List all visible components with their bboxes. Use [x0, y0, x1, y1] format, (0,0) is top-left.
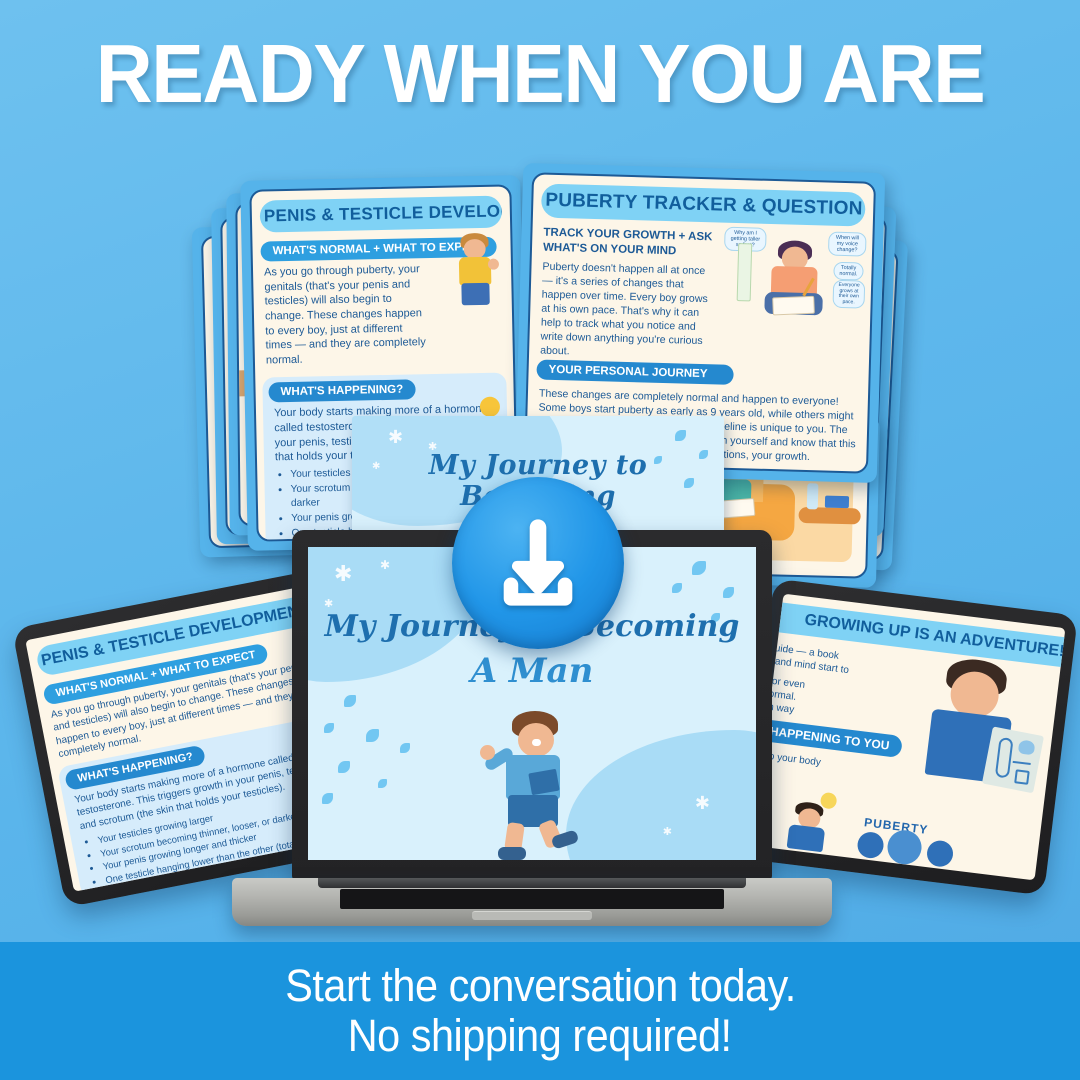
download-badge[interactable] [452, 477, 624, 649]
laptop-base [232, 878, 832, 926]
running-boy-illustration [472, 711, 592, 860]
sparkle-icon: ✱ [695, 794, 710, 812]
bottom-banner: Start the conversation today. No shippin… [0, 942, 1080, 1080]
section-heading-whats-happening: WHAT'S HAPPENING? [268, 380, 415, 403]
speech-bubble: Everyone grows at their own pace. [832, 280, 865, 309]
laptop-keyboard[interactable] [340, 889, 724, 909]
cover-title-line2: A Man [308, 651, 756, 691]
boy-illustration [446, 230, 504, 311]
section-heading-track-growth: TRACK YOUR GROWTH + ASK WHAT'S ON YOUR M… [532, 223, 723, 261]
section-heading-personal-journey: YOUR PERSONAL JOURNEY [536, 360, 734, 385]
sparkle-icon: ✱ [380, 559, 390, 571]
speech-bubble: When will my voice change? [828, 232, 867, 257]
laptop-trackpad[interactable] [472, 911, 592, 920]
section-body-normal-expect: As you go through puberty, your genitals… [253, 262, 441, 368]
page-title: READY WHEN YOU ARE [27, 32, 1053, 115]
laptop-hinge [318, 878, 746, 888]
decorative-wave [566, 730, 756, 860]
puberty-icons-row [856, 825, 969, 872]
boy-with-chart-illustration [901, 653, 1048, 818]
sparkle-icon: ✱ [663, 827, 672, 838]
speech-bubble: Totally normal. [833, 262, 863, 281]
sparkle-icon: ✱ [388, 428, 403, 446]
sparkle-icon: ✱ [334, 563, 352, 585]
boy-writing-illustration: Why am I getting taller so fast? When wi… [719, 225, 868, 349]
banner-line-1: Start the conversation today. [285, 961, 796, 1011]
banner-line-2: No shipping required! [348, 1011, 732, 1061]
section-body-track-growth: Puberty doesn't happen all at once — it'… [529, 256, 722, 363]
doc-title: PUBERTY TRACKER & QUESTION PAGE [541, 184, 866, 227]
doc-title: PENIS & TESTICLE DEVELOPMENT [260, 196, 503, 233]
download-icon [486, 511, 590, 615]
